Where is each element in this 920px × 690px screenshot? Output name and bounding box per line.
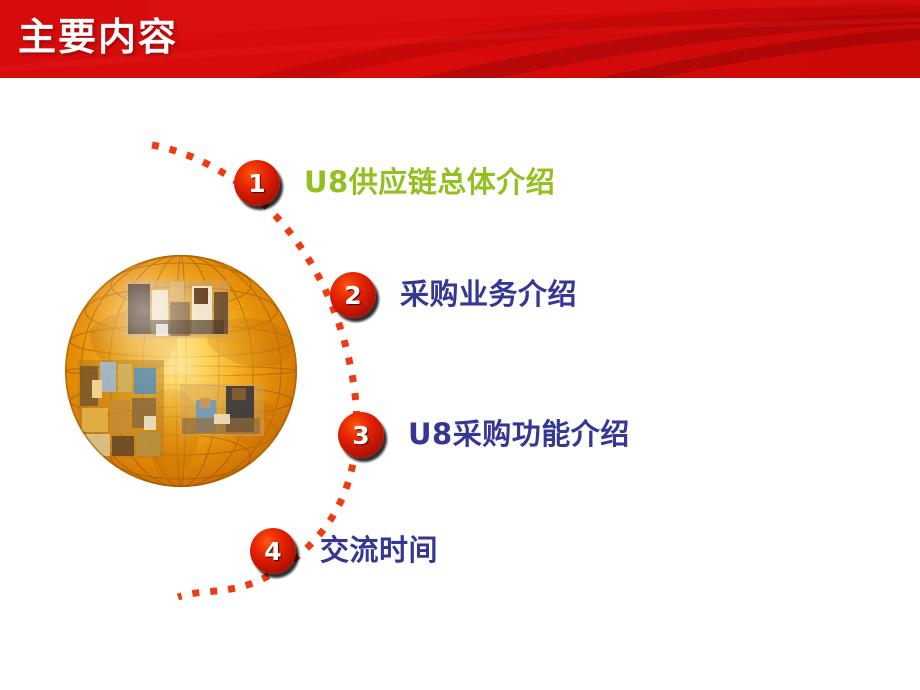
agenda-bullet-number-2: 2 xyxy=(344,283,361,308)
agenda-item-4[interactable]: 4 交流时间 xyxy=(250,528,438,574)
agenda-label-3: U8采购功能介绍 xyxy=(408,419,630,451)
agenda-bullet-number-1: 1 xyxy=(248,171,265,196)
agenda-bullet-3[interactable]: 3 xyxy=(338,412,384,458)
agenda-label-2: 采购业务介绍 xyxy=(400,279,577,311)
presentation-slide: 主要内容 xyxy=(0,0,920,690)
agenda-bullet-number-4: 4 xyxy=(264,539,281,564)
agenda-label-4: 交流时间 xyxy=(320,535,438,567)
globe-graphic xyxy=(62,252,300,490)
agenda-bullet-number-3: 3 xyxy=(352,423,369,448)
slide-header-banner: 主要内容 xyxy=(0,0,920,78)
agenda-bullet-4[interactable]: 4 xyxy=(250,528,296,574)
agenda-item-3[interactable]: 3 U8采购功能介绍 xyxy=(338,412,630,458)
agenda-bullet-2[interactable]: 2 xyxy=(330,272,376,318)
globe-image xyxy=(62,252,300,490)
agenda-bullet-1[interactable]: 1 xyxy=(234,160,280,206)
agenda-item-2[interactable]: 2 采购业务介绍 xyxy=(330,272,577,318)
page-title: 主要内容 xyxy=(18,8,178,66)
agenda-item-1[interactable]: 1 U8供应链总体介绍 xyxy=(234,160,555,206)
agenda-label-1: U8供应链总体介绍 xyxy=(304,167,555,199)
